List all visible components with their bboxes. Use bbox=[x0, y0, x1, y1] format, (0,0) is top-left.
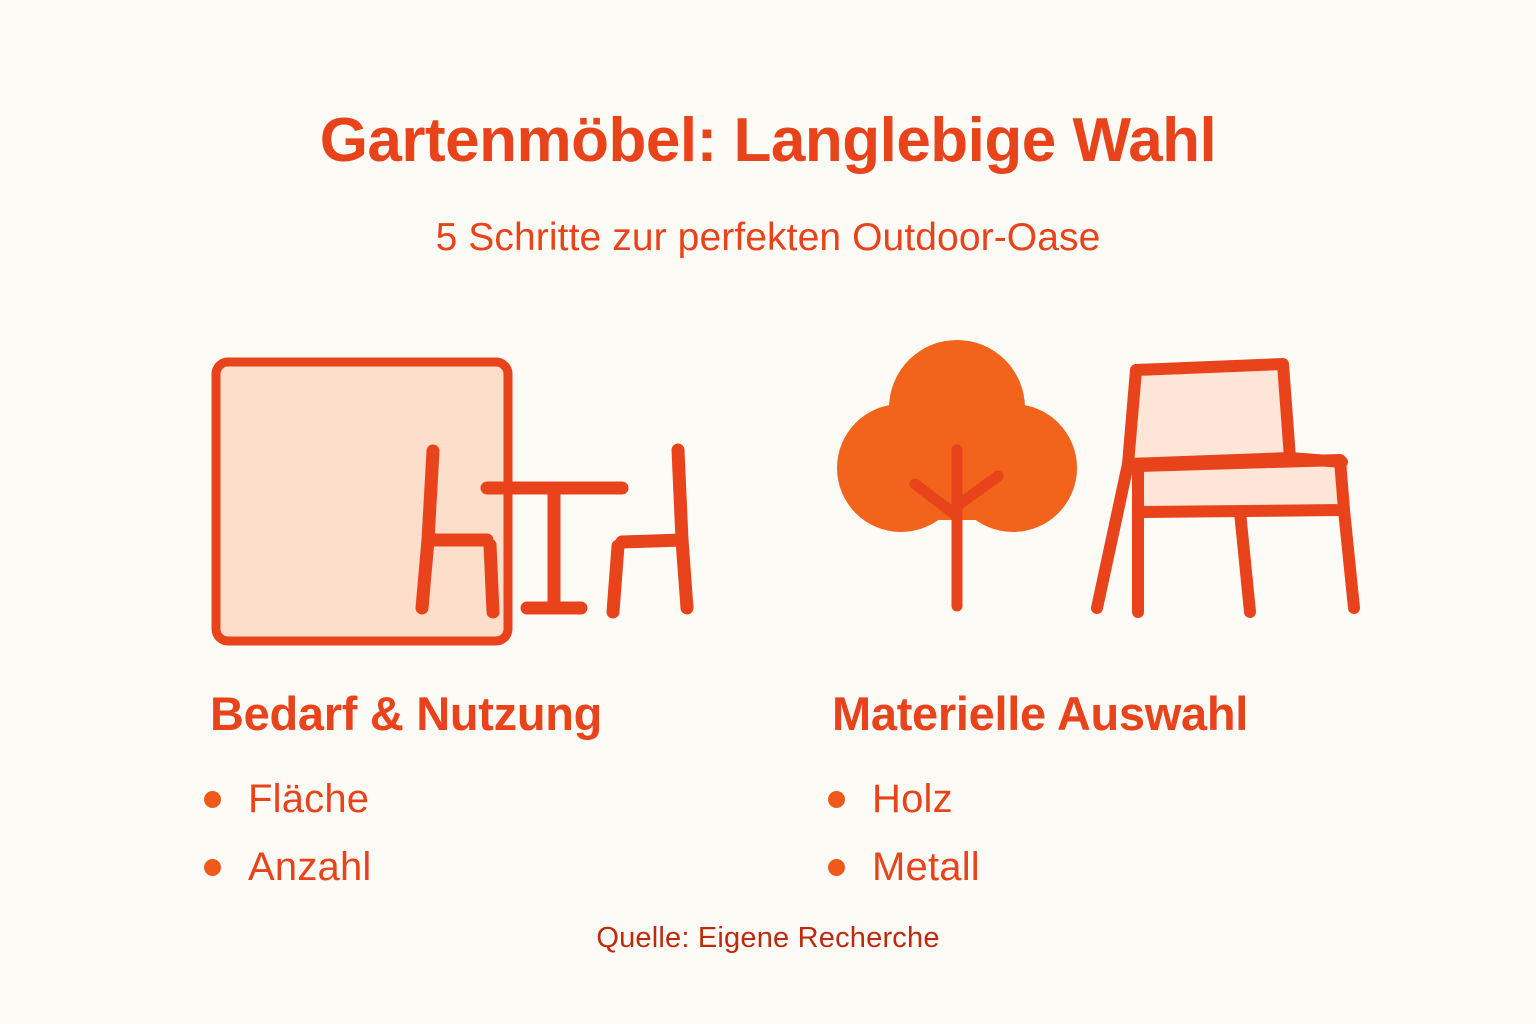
bullet-label: Fläche bbox=[248, 779, 369, 819]
bullet-label: Metall bbox=[872, 847, 980, 887]
patio-table-chairs-icon bbox=[190, 340, 750, 650]
bullet-dot-icon bbox=[204, 791, 221, 808]
column-bedarf-nutzung: Bedarf & Nutzung Fläche Anzahl bbox=[190, 340, 750, 650]
source-note: Quelle: Eigene Recherche bbox=[0, 922, 1536, 955]
patio-area-shape bbox=[216, 362, 508, 641]
bullet-dot-icon bbox=[828, 859, 845, 876]
list-item: Fläche bbox=[204, 765, 372, 833]
chair-seat-shape bbox=[1138, 460, 1344, 512]
list-item: Metall bbox=[828, 833, 980, 901]
bullet-list-right: Holz Metall bbox=[828, 765, 980, 901]
bullet-dot-icon bbox=[828, 791, 845, 808]
section-heading-right: Materielle Auswahl bbox=[832, 688, 1248, 740]
list-item: Holz bbox=[828, 765, 980, 833]
bullet-label: Holz bbox=[872, 779, 953, 819]
bullet-label: Anzahl bbox=[248, 847, 372, 887]
icon-area-right bbox=[820, 340, 1380, 650]
bullet-dot-icon bbox=[204, 859, 221, 876]
right-chair-shape bbox=[613, 450, 687, 612]
tree-and-chair-icon bbox=[820, 340, 1380, 650]
bullet-list-left: Fläche Anzahl bbox=[204, 765, 372, 901]
section-heading-left: Bedarf & Nutzung bbox=[210, 688, 602, 740]
page-subtitle: 5 Schritte zur perfekten Outdoor-Oase bbox=[0, 216, 1536, 261]
infographic-canvas: Gartenmöbel: Langlebige Wahl 5 Schritte … bbox=[0, 0, 1536, 1024]
column-materielle-auswahl: Materielle Auswahl Holz Metall bbox=[820, 340, 1380, 650]
page-title: Gartenmöbel: Langlebige Wahl bbox=[0, 108, 1536, 175]
chair-backrest-shape bbox=[1128, 364, 1290, 464]
icon-area-left bbox=[190, 340, 750, 650]
list-item: Anzahl bbox=[204, 833, 372, 901]
